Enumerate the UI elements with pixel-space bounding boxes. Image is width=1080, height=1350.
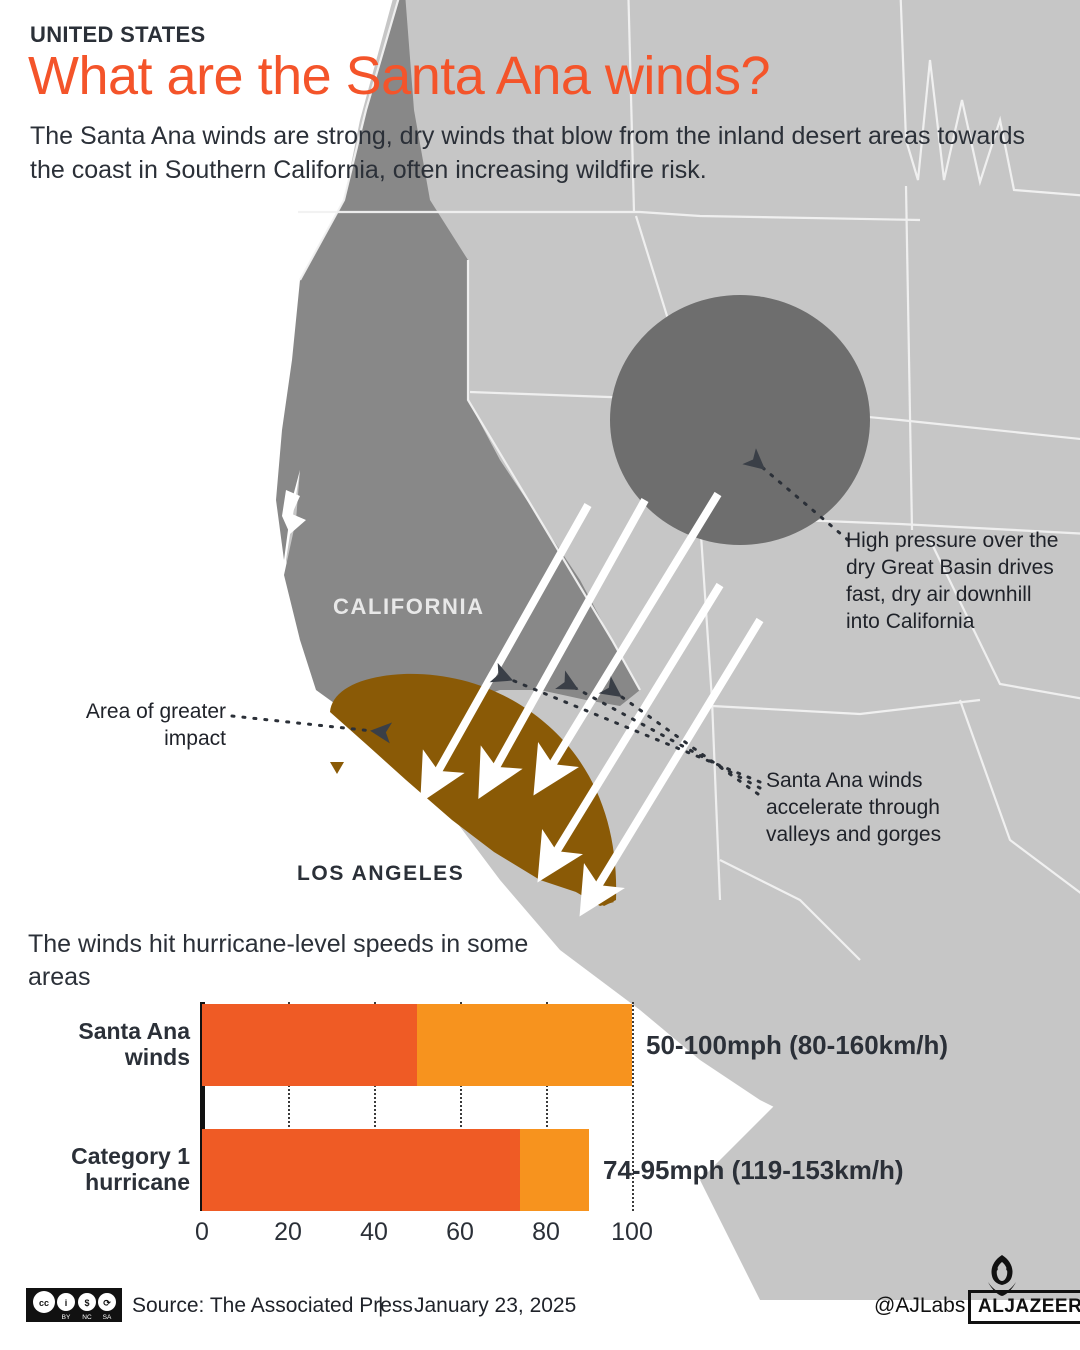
bar-segment-lower: [202, 1004, 417, 1086]
x-tick-0: 0: [195, 1218, 209, 1247]
x-tick-20: 20: [274, 1218, 302, 1247]
page-title: What are the Santa Ana winds?: [28, 48, 770, 105]
footer: cci $⟳ BYNCSA Source: The Associated Pre…: [0, 1282, 1080, 1350]
annotation-high-pressure: High pressure over the dry Great Basin d…: [846, 528, 1071, 636]
bar-segment-upper: [520, 1129, 589, 1211]
kicker: UNITED STATES: [30, 22, 205, 48]
publish-date: January 23, 2025: [414, 1294, 576, 1318]
speed-bar-chart: The winds hit hurricane-level speeds in …: [0, 920, 1080, 1280]
footer-separator: |: [378, 1294, 383, 1318]
map-label-los-angeles: LOS ANGELES: [297, 862, 464, 886]
bar-segment-upper: [417, 1004, 632, 1086]
x-tick-80: 80: [532, 1218, 560, 1247]
x-tick-40: 40: [360, 1218, 388, 1247]
svg-text:$: $: [84, 1298, 89, 1308]
creative-commons-icon: cci $⟳ BYNCSA: [26, 1288, 122, 1322]
svg-text:⟳: ⟳: [103, 1298, 111, 1308]
island-marker: [330, 762, 344, 774]
svg-text:i: i: [65, 1298, 68, 1308]
svg-text:SA: SA: [103, 1314, 112, 1321]
x-tick-100: 100: [611, 1218, 653, 1247]
bar-value-label-1: 50-100mph (80-160km/h): [646, 1030, 948, 1061]
annotation-valleys: Santa Ana winds accelerate through valle…: [766, 768, 976, 849]
annotation-impact-area: Area of greater impact: [36, 698, 226, 753]
source-text: Source: The Associated Press: [132, 1294, 413, 1318]
bar-2: [202, 1129, 589, 1211]
standfirst: The Santa Ana winds are strong, dry wind…: [30, 120, 1040, 188]
bar-1: [202, 1004, 632, 1086]
bar-value-label-2: 74-95mph (119-153km/h): [603, 1155, 904, 1186]
bar-category-label-2: Category 1 hurricane: [8, 1143, 190, 1196]
x-tick-60: 60: [446, 1218, 474, 1247]
svg-text:BY: BY: [62, 1314, 71, 1321]
map-label-california: CALIFORNIA: [333, 594, 485, 620]
svg-text:cc: cc: [39, 1298, 49, 1308]
infographic-root: UNITED STATES What are the Santa Ana win…: [0, 0, 1080, 1350]
bar-category-label-1: Santa Ana winds: [8, 1018, 190, 1071]
chart-title: The winds hit hurricane-level speeds in …: [28, 928, 588, 994]
aljazeera-brand: ALJAZEERA: [968, 1290, 1080, 1324]
svg-text:NC: NC: [82, 1314, 92, 1321]
bar-segment-lower: [202, 1129, 520, 1211]
high-pressure-circle: [610, 295, 870, 545]
ajlabs-handle: @AJLabs: [874, 1294, 965, 1318]
